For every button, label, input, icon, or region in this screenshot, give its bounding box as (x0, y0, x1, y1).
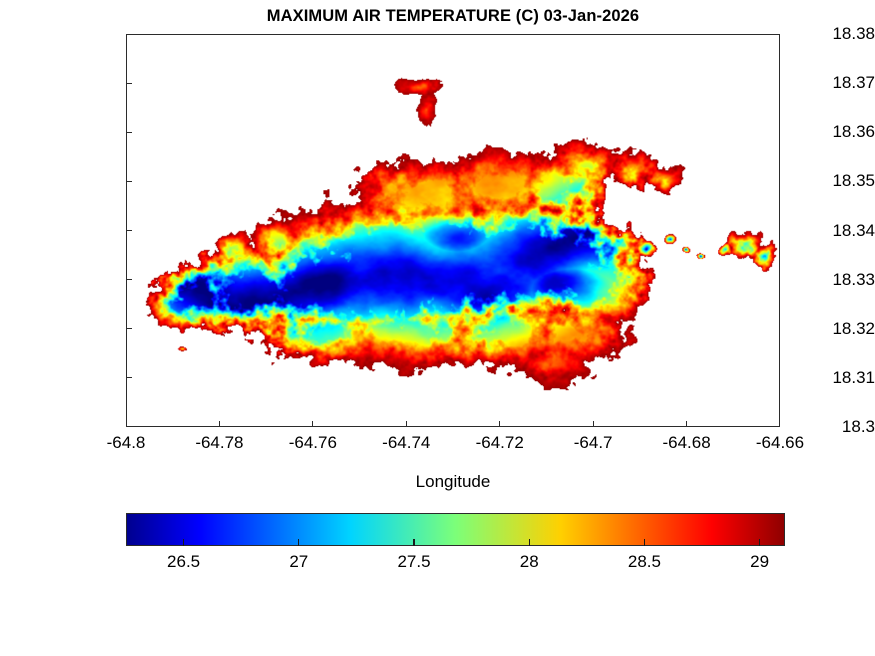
y-tick-label: 18.31 (757, 369, 875, 386)
x-axis-label: Longitude (126, 472, 780, 492)
colorbar-tick-mark (529, 539, 530, 546)
y-tick-label: 18.38 (757, 25, 875, 42)
x-tick-mark (499, 421, 500, 427)
matlab-figure: MAXIMUM AIR TEMPERATURE (C) 03-Jan-2026 … (0, 0, 875, 656)
colorbar-tick-mark (413, 539, 414, 546)
x-tick-label: -64.66 (720, 434, 840, 451)
x-tick-mark (312, 421, 313, 427)
y-tick-mark (126, 377, 132, 378)
x-tick-mark (686, 421, 687, 427)
map-axes[interactable] (126, 34, 780, 427)
y-tick-label: 18.35 (757, 172, 875, 189)
colorbar-tick-mark (183, 539, 184, 546)
y-tick-mark (126, 181, 132, 182)
colorbar-tick-mark (759, 539, 760, 546)
y-tick-mark (126, 230, 132, 231)
y-tick-label: 18.37 (757, 74, 875, 91)
temperature-raster (127, 35, 779, 426)
y-tick-label: 18.36 (757, 123, 875, 140)
x-tick-mark (219, 421, 220, 427)
colorbar-tick-mark (298, 539, 299, 546)
colorbar-tick-label: 28.5 (599, 552, 689, 572)
y-tick-mark (126, 132, 132, 133)
colorbar-tick-mark (644, 539, 645, 546)
colorbar-gradient (126, 513, 785, 546)
colorbar-tick-label: 27 (254, 552, 344, 572)
y-tick-label: 18.34 (757, 222, 875, 239)
y-tick-label: 18.32 (757, 320, 875, 337)
colorbar-tick-label: 26.5 (139, 552, 229, 572)
y-tick-mark (126, 83, 132, 84)
colorbar-tick-label: 28 (484, 552, 574, 572)
y-tick-mark (126, 279, 132, 280)
colorbar[interactable] (126, 513, 785, 546)
x-tick-mark (406, 421, 407, 427)
page-title: MAXIMUM AIR TEMPERATURE (C) 03-Jan-2026 (126, 7, 780, 26)
y-tick-label: 18.33 (757, 271, 875, 288)
colorbar-tick-label: 29 (715, 552, 805, 572)
y-tick-mark (126, 328, 132, 329)
colorbar-tick-label: 27.5 (369, 552, 459, 572)
x-tick-mark (593, 421, 594, 427)
